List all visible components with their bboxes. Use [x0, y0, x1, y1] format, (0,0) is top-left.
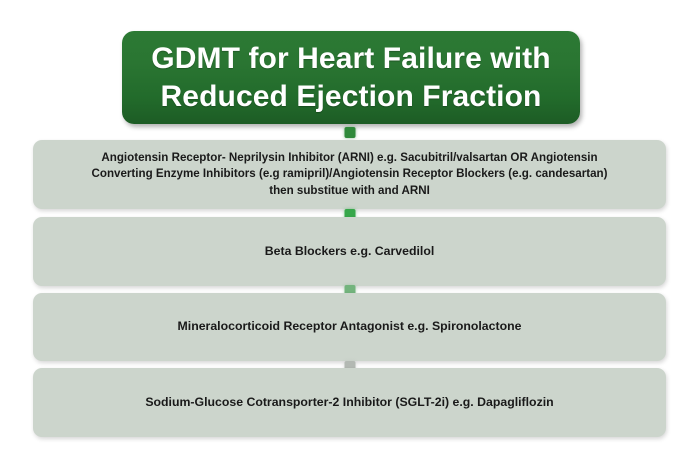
title-line-2: Reduced Ejection Fraction [161, 80, 542, 113]
flowchart-step-1-label: Angiotensin Receptor- Neprilysin Inhibit… [91, 150, 607, 199]
flowchart-step-4-label: Sodium-Glucose Cotransporter-2 Inhibitor… [145, 394, 553, 411]
flowchart-step-2: Beta Blockers e.g. Carvedilol [33, 217, 666, 286]
step-1-line-1: Angiotensin Receptor- Neprilysin Inhibit… [101, 151, 597, 164]
flowchart-step-4: Sodium-Glucose Cotransporter-2 Inhibitor… [33, 368, 666, 437]
title-line-1: GDMT for Heart Failure with [151, 42, 550, 75]
flowchart-step-2-label: Beta Blockers e.g. Carvedilol [265, 243, 435, 260]
flowchart-canvas: GDMT for Heart Failure with Reduced Ejec… [0, 0, 700, 458]
arrow-down-icon [345, 127, 356, 138]
step-1-line-2: Converting Enzyme Inhibitors (e.g ramipr… [91, 167, 607, 180]
page-title: GDMT for Heart Failure with Reduced Ejec… [151, 40, 550, 114]
flowchart-step-3-label: Mineralocorticoid Receptor Antagonist e.… [178, 318, 522, 335]
arrow-down-icon-tip [345, 127, 356, 138]
step-1-line-3: then substitue with and ARNI [269, 184, 430, 197]
flowchart-step-1: Angiotensin Receptor- Neprilysin Inhibit… [33, 140, 666, 209]
flowchart-step-3: Mineralocorticoid Receptor Antagonist e.… [33, 293, 666, 361]
flowchart-title-banner: GDMT for Heart Failure with Reduced Ejec… [122, 31, 580, 124]
